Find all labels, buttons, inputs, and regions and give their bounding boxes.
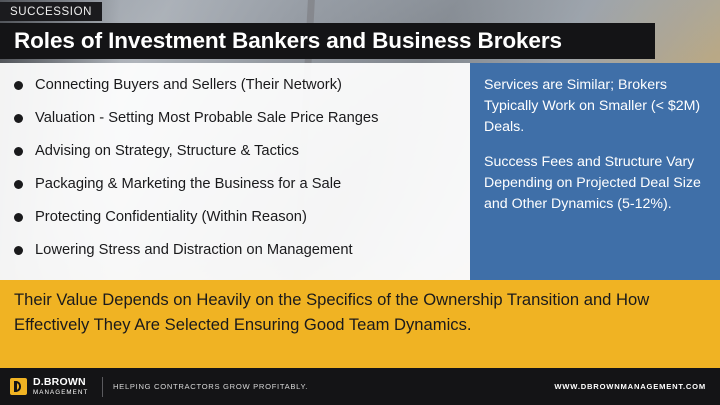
list-item: Lowering Stress and Distraction on Manag… (0, 240, 470, 273)
page-title: Roles of Investment Bankers and Business… (0, 28, 562, 54)
title-bar: Roles of Investment Bankers and Business… (0, 23, 655, 59)
bullet-list: Connecting Buyers and Sellers (Their Net… (0, 63, 470, 280)
logo: D.BROWN MANAGEMENT (0, 377, 100, 396)
side-panel: Services are Similar; Brokers Typically … (470, 63, 720, 280)
list-item: Protecting Confidentiality (Within Reaso… (0, 207, 470, 240)
list-item-label: Connecting Buyers and Sellers (Their Net… (35, 75, 342, 95)
footer-tagline: HELPING CONTRACTORS GROW PROFITABLY. (113, 382, 308, 391)
list-item-label: Advising on Strategy, Structure & Tactic… (35, 141, 299, 161)
list-item: Advising on Strategy, Structure & Tactic… (0, 141, 470, 174)
bullet-dot-icon (14, 81, 23, 90)
footer-url[interactable]: WWW.DBROWNMANAGEMENT.COM (554, 382, 706, 391)
list-item: Packaging & Marketing the Business for a… (0, 174, 470, 207)
logo-name: D.BROWN (33, 377, 88, 388)
brand-mark-icon (10, 378, 27, 395)
list-item: Valuation - Setting Most Probable Sale P… (0, 108, 470, 141)
list-item-label: Protecting Confidentiality (Within Reaso… (35, 207, 307, 227)
list-item: Connecting Buyers and Sellers (Their Net… (0, 75, 470, 108)
bullet-dot-icon (14, 147, 23, 156)
bullet-dot-icon (14, 180, 23, 189)
bullet-dot-icon (14, 246, 23, 255)
side-panel-paragraph-1: Services are Similar; Brokers Typically … (484, 75, 708, 138)
bullet-dot-icon (14, 213, 23, 222)
logo-text: D.BROWN MANAGEMENT (33, 377, 88, 396)
list-item-label: Lowering Stress and Distraction on Manag… (35, 240, 353, 260)
callout-band: Their Value Depends on Heavily on the Sp… (0, 280, 720, 368)
footer-divider (102, 377, 103, 397)
slide: SUCCESSION Roles of Investment Bankers a… (0, 0, 720, 405)
footer-bar: D.BROWN MANAGEMENT HELPING CONTRACTORS G… (0, 368, 720, 405)
logo-subtitle: MANAGEMENT (33, 390, 88, 396)
bullet-dot-icon (14, 114, 23, 123)
kicker-label: SUCCESSION (0, 2, 102, 21)
side-panel-paragraph-2: Success Fees and Structure Vary Dependin… (484, 152, 708, 215)
list-item-label: Packaging & Marketing the Business for a… (35, 174, 341, 194)
list-item-label: Valuation - Setting Most Probable Sale P… (35, 108, 378, 128)
callout-text: Their Value Depends on Heavily on the Sp… (14, 288, 706, 337)
